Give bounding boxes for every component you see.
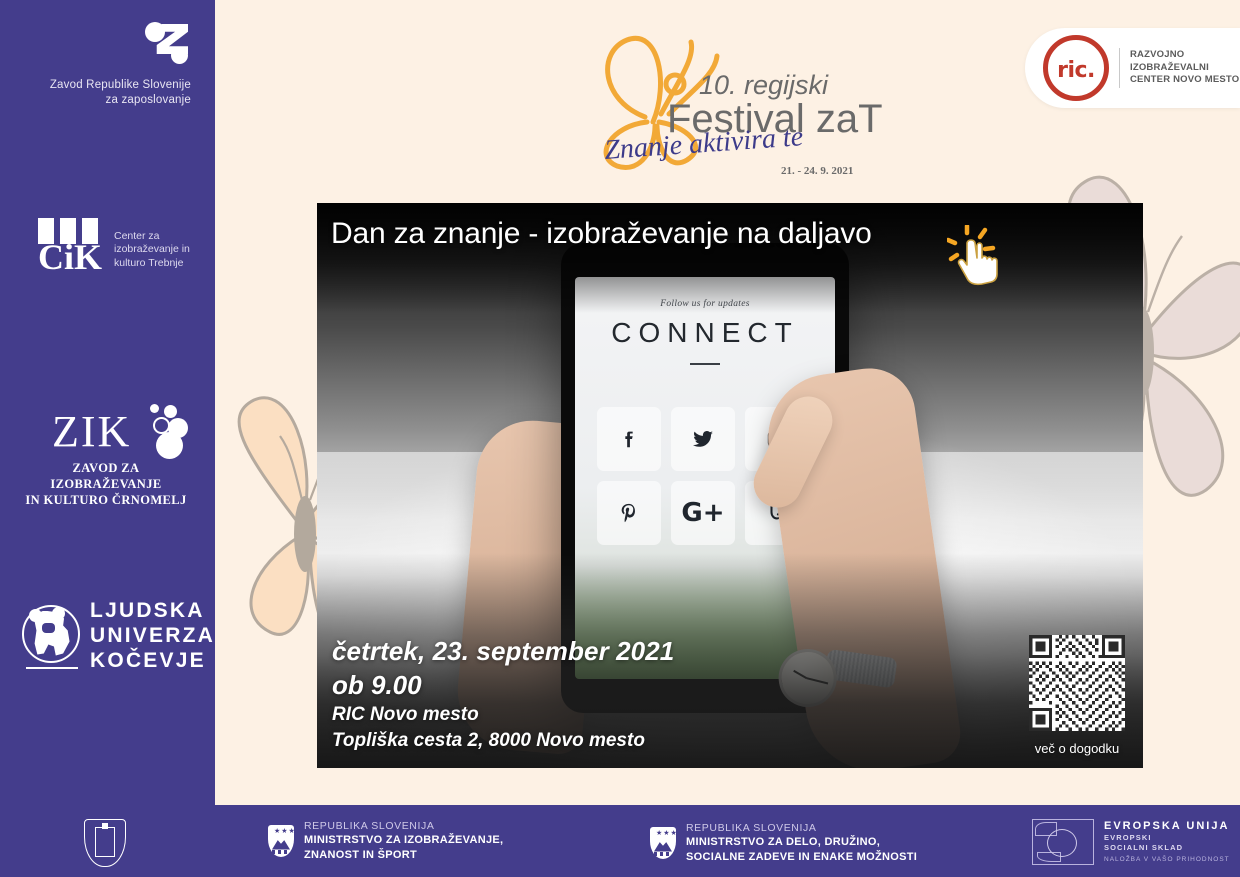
cik-label-line2: izobraževanje in xyxy=(114,243,190,257)
cik-label: Center za izobraževanje in kulturo Trebn… xyxy=(114,230,190,277)
cik-blocks-icon: CiK xyxy=(38,218,104,276)
eu-stars-icon xyxy=(1032,819,1094,865)
footer-city-coat-of-arms xyxy=(84,819,126,867)
festival-edition: 10. regijski xyxy=(699,70,829,100)
ric-label: RAZVOJNO IZOBRAŽEVALNI CENTER NOVO MESTO xyxy=(1130,49,1239,87)
city-shield-icon xyxy=(84,819,126,867)
festival-slogan: Znanje aktivira te xyxy=(603,121,804,166)
ric-logo-badge: ric. RAZVOJNO IZOBRAŽEVALNI CENTER NOVO … xyxy=(1025,28,1240,108)
cik-label-line3: kulturo Trebnje xyxy=(114,257,190,271)
ric-label-line2: IZOBRAŽEVALNI xyxy=(1130,62,1239,75)
zrsz-label-line2: za zaposlovanje xyxy=(0,93,191,108)
zrsz-z-mark-icon xyxy=(145,22,189,66)
mddsz-line3: SOCIALNE ZADEVE IN ENAKE MOŽNOSTI xyxy=(686,850,917,865)
poster-canvas: Zavod Republike Slovenije za zaposlovanj… xyxy=(0,0,1240,877)
sidebar-logo-zik: ZIK ZAVOD ZA IZOBRAŽEVANJE IN KULTURO ČR… xyxy=(0,408,215,508)
ric-circle-icon: ric. xyxy=(1043,35,1109,101)
mizs-line1: REPUBLIKA SLOVENIJA xyxy=(304,819,503,833)
qr-block[interactable]: več o dogodku xyxy=(1029,635,1125,756)
pointing-hand-click-icon xyxy=(947,225,1009,287)
google-plus-icon[interactable]: G+ xyxy=(671,481,735,545)
mddsz-line1: REPUBLIKA SLOVENIJA xyxy=(686,821,917,835)
eu-line4: NALOŽBA V VAŠO PRIHODNOST xyxy=(1104,855,1230,865)
partners-sidebar: Zavod Republike Slovenije za zaposlovanj… xyxy=(0,0,215,805)
lu-label-line1: LJUDSKA xyxy=(90,598,215,623)
ric-divider xyxy=(1119,48,1120,88)
facebook-icon[interactable] xyxy=(597,407,661,471)
zik-label-line1: ZAVOD ZA IZOBRAŽEVANJE xyxy=(20,460,192,492)
eu-line1: EVROPSKA UNIJA xyxy=(1104,819,1230,833)
sidebar-logo-zrsz: Zavod Republike Slovenije za zaposlovanj… xyxy=(0,22,215,108)
ric-mark-text: ric. xyxy=(1057,58,1095,83)
event-date: četrtek, 23. september 2021 xyxy=(332,634,674,668)
mizs-line2: MINISTRSTVO ZA IZOBRAŽEVANJE, xyxy=(304,833,503,848)
footer-european-union: EVROPSKA UNIJA EVROPSKI SOCIALNI SKLAD N… xyxy=(1032,819,1230,865)
tablet-divider xyxy=(690,363,720,365)
cik-acronym: CiK xyxy=(38,238,104,276)
event-venue: RIC Novo mesto xyxy=(332,702,674,728)
zrsz-label: Zavod Republike Slovenije za zaposlovanj… xyxy=(0,78,191,108)
festival-dates: 21. - 24. 9. 2021 xyxy=(781,165,853,177)
tablet-heading: CONNECT xyxy=(575,317,835,349)
qr-label: več o dogodku xyxy=(1029,741,1125,756)
lu-label-line2: UNIVERZA xyxy=(90,623,215,648)
lu-label: LJUDSKA UNIVERZA KOČEVJE xyxy=(90,598,215,673)
festival-logo: 10. regijski Festival zaTE Znanje aktivi… xyxy=(575,22,885,182)
event-address: Topliška cesta 2, 8000 Novo mesto xyxy=(332,728,674,754)
slovenia-shield-icon: ★★★ xyxy=(650,827,676,859)
event-time: ob 9.00 xyxy=(332,668,674,702)
eu-line3: SOCIALNI SKLAD xyxy=(1104,843,1230,853)
ric-label-line1: RAZVOJNO xyxy=(1130,49,1239,62)
mizs-line3: ZNANOST IN ŠPORT xyxy=(304,848,503,863)
zik-label-line2: IN KULTURO ČRNOMELJ xyxy=(20,492,192,508)
ric-label-line3: CENTER NOVO MESTO xyxy=(1130,74,1239,87)
footer-ministry-education: ★★★ REPUBLIKA SLOVENIJA MINISTRSTVO ZA I… xyxy=(268,819,503,862)
sidebar-logo-ljudska-univerza-kocevje: LJUDSKA UNIVERZA KOČEVJE xyxy=(0,598,215,673)
sidebar-logo-cik: CiK Center za izobraževanje in kulturo T… xyxy=(0,218,215,276)
qr-code-icon[interactable] xyxy=(1029,635,1125,731)
bear-in-circle-icon xyxy=(22,603,78,669)
lu-label-line3: KOČEVJE xyxy=(90,648,215,673)
event-photo-panel: Follow us for updates CONNECT xyxy=(317,203,1143,768)
funding-footer: ★★★ REPUBLIKA SLOVENIJA MINISTRSTVO ZA I… xyxy=(0,805,1240,877)
twitter-icon[interactable] xyxy=(671,407,735,471)
cik-label-line1: Center za xyxy=(114,230,190,244)
zik-dots-icon xyxy=(142,404,200,462)
eu-line2: EVROPSKI xyxy=(1104,833,1230,843)
zik-circles-icon: ZIK xyxy=(20,408,190,456)
footer-ministry-labour: ★★★ REPUBLIKA SLOVENIJA MINISTRSTVO ZA D… xyxy=(650,821,917,864)
mddsz-line2: MINISTRSTVO ZA DELO, DRUŽINO, xyxy=(686,835,917,850)
event-details: četrtek, 23. september 2021 ob 9.00 RIC … xyxy=(332,634,674,754)
slovenia-shield-icon: ★★★ xyxy=(268,825,294,857)
pinterest-icon[interactable] xyxy=(597,481,661,545)
page-title: Dan za znanje - izobraževanje na daljavo xyxy=(331,217,872,251)
zrsz-label-line1: Zavod Republike Slovenije xyxy=(0,78,191,93)
zik-label: ZAVOD ZA IZOBRAŽEVANJE IN KULTURO ČRNOME… xyxy=(20,460,192,508)
